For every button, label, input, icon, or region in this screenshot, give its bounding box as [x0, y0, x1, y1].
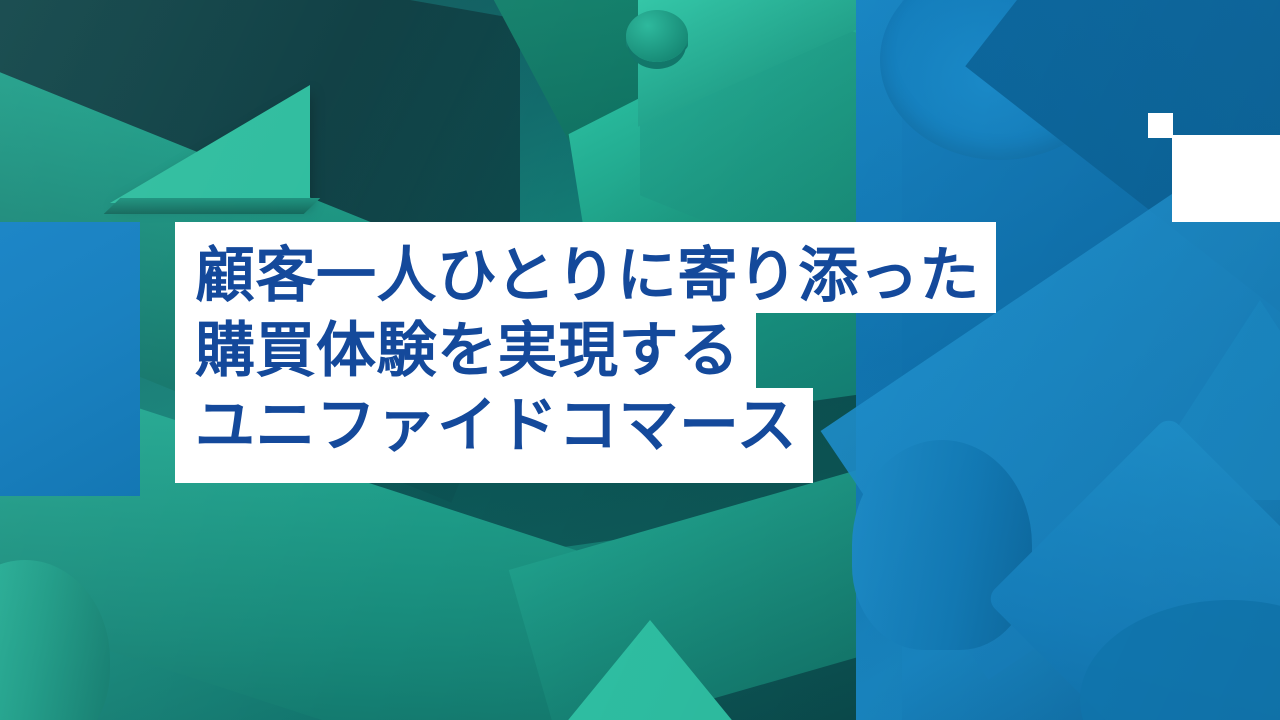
- teal-triangle-prism: [110, 85, 310, 203]
- teal-triangle-edge: [104, 198, 321, 214]
- teal-disc: [626, 10, 688, 62]
- accent-rect-topright: [1172, 135, 1280, 222]
- page-title: 顧客一人ひとりに寄り添った 購買体験を実現する ユニファイドコマース: [175, 222, 996, 483]
- title-slide: 顧客一人ひとりに寄り添った 購買体験を実現する ユニファイドコマース: [0, 0, 1280, 720]
- accent-rect-left: [0, 222, 140, 496]
- title-line-3: ユニファイドコマース: [175, 388, 813, 483]
- title-line-1: 顧客一人ひとりに寄り添った: [175, 222, 996, 313]
- title-line-2: 購買体験を実現する: [175, 313, 756, 388]
- teal-triangle-bottom: [560, 620, 740, 720]
- accent-square-small: [1148, 113, 1173, 138]
